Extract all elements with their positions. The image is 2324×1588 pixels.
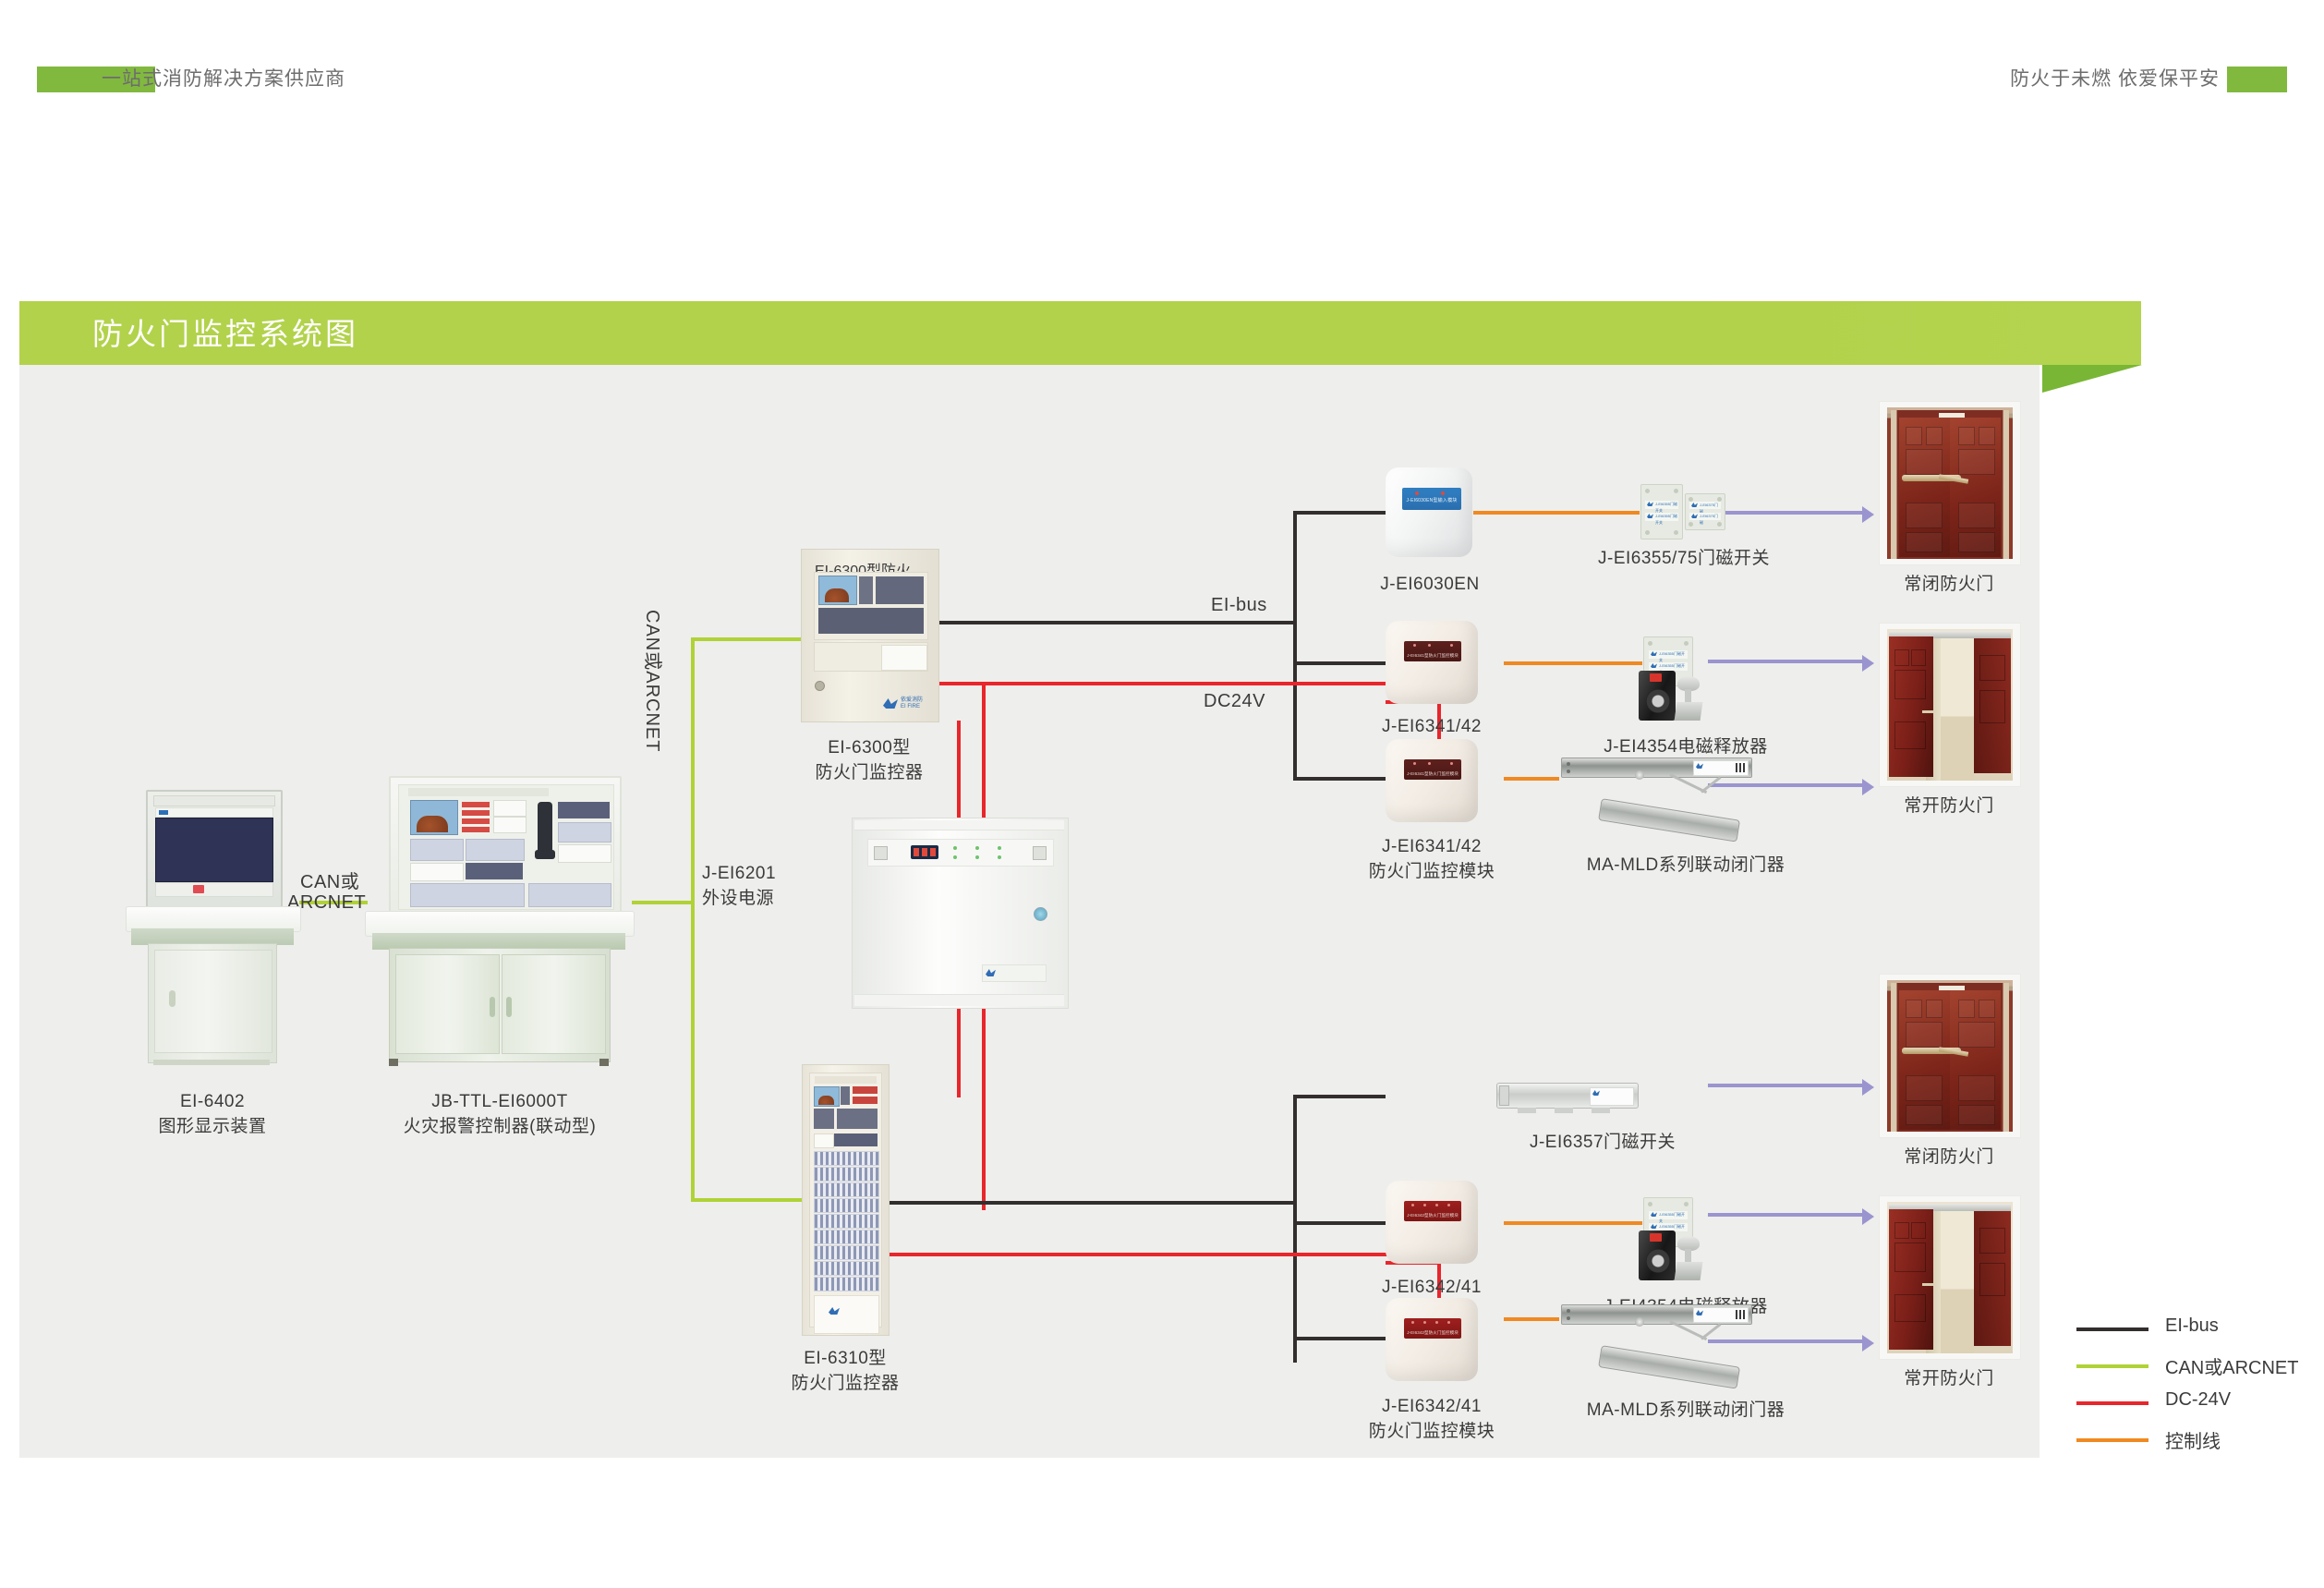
label-ei6030en: J-EI6030EN [1339, 573, 1520, 597]
label-ei6402-name: 图形显示装置 [79, 1114, 345, 1139]
wire-eibus-to-6357 [1293, 1095, 1386, 1098]
wire-eibus-6310-main [888, 1201, 1293, 1205]
ei6310-status-led-1 [853, 1086, 878, 1094]
ei6341b-nameplate-text: J-EI6341型防火门监控模块 [1404, 771, 1461, 777]
ei6000t-zone-block-1 [493, 800, 527, 817]
header-accent-bar-right [2227, 67, 2287, 92]
ei6402-monitor-frame [146, 790, 283, 914]
ei4354a-release-button[interactable] [1650, 673, 1662, 682]
ei6355b-sticker-1: J-EI6355门磁开关 [1649, 1211, 1688, 1219]
device-j-ei6341-42-module-b[interactable]: J-EI6341型防火门监控模块 [1386, 739, 1478, 822]
wire-can-6000-to-trunk [632, 901, 693, 904]
ei6300-faceplate-title: EI-6300型防火门监控器 [815, 558, 926, 568]
legend-swatch-control [2076, 1438, 2148, 1442]
ei6000t-cabinet-door-right [502, 954, 606, 1054]
legend-item-ei-bus: EI-bus [2076, 1312, 2307, 1349]
ei6000t-handle-left [490, 997, 495, 1017]
ei6402-control-strip [155, 882, 273, 897]
label-ei6341-42-b-name: 防火门监控模块 [1341, 859, 1522, 884]
wire-dc24v-6300-main [938, 682, 1441, 685]
ei6300-logo-mark-icon [883, 698, 898, 709]
image-open-fire-door-top [1879, 623, 2021, 787]
ei6201-nameplate [982, 964, 1047, 982]
arrow-to-open-door-top [1862, 655, 1874, 672]
ei6310-zone-row-1 [814, 1151, 879, 1166]
ei6201-base [854, 994, 1064, 1006]
image-closed-fire-door-top [1879, 401, 2021, 565]
ei6310-faceplate-title [815, 1076, 877, 1084]
legend-item-control: 控制线 [2076, 1423, 2307, 1460]
wire-eibus-6300-main [938, 621, 1297, 624]
ei4354b-magnet-body [1639, 1230, 1676, 1280]
ei6000t-cabinet [389, 948, 611, 1062]
ei6000t-handset[interactable] [538, 802, 552, 855]
label-ma-mld-a: MA-MLD系列联动闭门器 [1543, 854, 1829, 878]
ei6030en-logo-watermark-icon [1411, 527, 1443, 539]
ei6355-plate-left: J-EI6355门磁开关 J-EI6355门磁开关 [1640, 484, 1683, 539]
device-j-ei6342-41-module-b[interactable]: J-EI6342型防火门监控模块 [1386, 1298, 1478, 1381]
ei6030en-action-led [1415, 491, 1419, 495]
device-j-ei6355-75-door-magnet-switch[interactable]: J-EI6355门磁开关 J-EI6355门磁开关 J-EI6375门磁 J-E… [1640, 484, 1724, 538]
ei6310-zone-row-7 [814, 1245, 879, 1260]
wire-eibus-vertical-bottom [1293, 1095, 1297, 1363]
ma-mld-b-pivot [1635, 1317, 1644, 1327]
ei6000t-status-led-row-4 [462, 827, 490, 832]
ei6310-status-led-2 [853, 1097, 878, 1104]
ei6201-led-4 [953, 855, 957, 859]
label-ei6300-name: 防火门监控器 [735, 760, 1003, 785]
wire-label-can-arcnet: CAN或ARCNET [641, 610, 668, 637]
arrow-to-closed-door-bottom [1862, 1079, 1874, 1096]
ei6000t-keypad-far-right-2[interactable] [528, 883, 611, 907]
label-ei6000t-name: 火灾报警控制器(联动型) [366, 1114, 634, 1139]
device-ei6300-fire-door-monitor[interactable]: EI-6300型防火门监控器 依爱消防EI FIRE [801, 549, 939, 722]
ei6000t-keypad-far-right-1[interactable] [558, 822, 611, 842]
ei6402-brand-strip [155, 807, 273, 818]
ei6300-lower-panel [814, 642, 928, 672]
ei4354b-release-button[interactable] [1650, 1233, 1662, 1242]
wire-control-6342a-to-dms [1504, 1221, 1642, 1225]
ei6310-label-strip [834, 1133, 878, 1146]
ei6000t-lcd [410, 800, 458, 835]
wire-eibus-to-6341b [1293, 777, 1386, 781]
wire-output-to-open-door-top [1708, 660, 1865, 663]
header-tagline: 一站式消防解决方案供应商 [102, 67, 345, 92]
ei6201-lock-knob[interactable] [1034, 907, 1047, 921]
ei6000t-cabinet-door-left [395, 954, 500, 1054]
ei6310-logo-mark-icon [829, 1307, 840, 1315]
ei4354a-magnet-body [1639, 671, 1676, 721]
wire-control-6341b-to-closer [1504, 777, 1559, 781]
device-j-ei6341-42-module-a[interactable]: J-EI6341型防火门监控模块 [1386, 621, 1478, 704]
device-jb-ttl-ei6000t-fire-panel[interactable] [365, 776, 633, 1072]
ei6310-zone-row-3 [814, 1182, 879, 1197]
image-open-fire-door-bottom [1879, 1195, 2021, 1360]
wire-dc24v-psu-to-bottom [957, 1005, 961, 1097]
ei6000t-zone-block-2 [493, 817, 527, 833]
ei6000t-status-led-row-3 [462, 818, 490, 824]
ei6000t-panel-inner [398, 784, 614, 910]
ei6300-screen [818, 576, 857, 605]
ei6201-top-cap [854, 820, 1064, 830]
wire-label-can-or: CAN或 [300, 867, 359, 893]
ei6310-zone-row-9 [814, 1277, 879, 1291]
ei6201-led-5 [975, 855, 979, 859]
ei6342b-nameplate: J-EI6342型防火门监控模块 [1404, 1318, 1461, 1339]
legend-item-can-arcnet: CAN或ARCNET [2076, 1349, 2307, 1386]
wire-control-6030en-to-dms [1473, 511, 1640, 515]
label-ma-mld-b: MA-MLD系列联动闭门器 [1543, 1399, 1829, 1423]
ei6000t-panel-frame [389, 776, 622, 918]
ei6030en-nameplate-text: J-EI6030EN型输入模块 [1402, 497, 1461, 503]
wire-control-6341a-to-dms [1504, 661, 1642, 665]
ma-mld-a-closer-body [1598, 798, 1740, 842]
ei6355-sticker-2: J-EI6355门磁开关 [1645, 513, 1678, 521]
ei6375-sticker-1: J-EI6375门磁 [1689, 502, 1721, 509]
label-open-fire-door-top: 常开防火门 [1879, 794, 2019, 818]
label-ei6357: J-EI6357门磁开关 [1478, 1131, 1727, 1155]
device-ma-mld-door-closer-a[interactable] [1561, 758, 1775, 837]
ei6402-cabinet [148, 943, 277, 1063]
label-ei6342-41-b-name: 防火门监控模块 [1341, 1419, 1522, 1444]
ei6000t-handle-right [506, 997, 512, 1017]
ei6310-zone-row-6 [814, 1230, 879, 1244]
label-ei6310-name: 防火门监控器 [711, 1371, 979, 1396]
ei6342a-nameplate: J-EI6342型防火门监控模块 [1404, 1201, 1461, 1221]
ei6402-alarm-led [193, 885, 204, 893]
label-closed-fire-door-bottom: 常闭防火门 [1879, 1146, 2019, 1170]
ei6355a-sticker-1: J-EI6355门磁开关 [1649, 650, 1688, 659]
device-j-ei6357-door-magnet-switch[interactable] [1496, 1083, 1639, 1109]
legend-label-can-arcnet: CAN或ARCNET [2165, 1352, 2298, 1379]
ei6000t-function-keys[interactable] [410, 883, 525, 907]
label-ei6341-42-a: J-EI6341/42 [1341, 715, 1522, 739]
ei6357-mount-foot-3 [1592, 1108, 1610, 1113]
ei6201-led-2 [975, 846, 979, 850]
wire-eibus-to-6341a [1293, 661, 1386, 665]
wire-can-to-6300 [691, 637, 804, 641]
banner-fold-decoration [2042, 365, 2142, 393]
label-ei6201-code: J-EI6201 [702, 861, 914, 886]
ei4354b-armature-plate [1676, 1236, 1703, 1280]
ei6402-base [153, 1060, 270, 1065]
device-j-ei4354-releaser-b[interactable] [1639, 1227, 1703, 1284]
ei6402-monitor-top-vent [153, 795, 275, 806]
arrow-to-open-door-bottom [1862, 1208, 1874, 1225]
header-slogan: 防火于未燃 依爱保平安 [2010, 67, 2220, 92]
ei6300-faceplate [814, 572, 928, 640]
ei6357-end-cap [1499, 1085, 1509, 1106]
ei6000t-printer-slot [410, 863, 464, 881]
device-j-ei6201-power-supply[interactable] [852, 818, 1069, 1009]
ei6000t-status-led-row-1 [462, 802, 490, 807]
ei6201-voltage-display [911, 845, 938, 859]
ma-mld-a-arm-2 [1701, 776, 1721, 793]
label-ei6355-75: J-EI6355/75门磁开关 [1559, 547, 1809, 571]
label-ei6310-code: EI-6310型 [711, 1346, 979, 1371]
ei4354a-magnet-face [1646, 689, 1670, 713]
ei6000t-leg-right [599, 1059, 609, 1066]
ei6201-led-1 [953, 846, 957, 850]
wire-can-vertical-trunk [691, 637, 695, 1202]
ei6000t-nameplate [408, 788, 549, 796]
ei6310-brand-logo [829, 1306, 862, 1315]
ei6000t-brand-plate [466, 863, 523, 879]
ei6310-zone-row-8 [814, 1261, 879, 1276]
ei6300-door-lock[interactable] [815, 681, 825, 691]
ei6000t-keypad-left[interactable] [410, 839, 464, 861]
ei6310-screen [814, 1086, 840, 1107]
ei6201-led-6 [998, 855, 1001, 859]
ei6000t-display-right [558, 802, 610, 818]
ei6000t-status-led-row-2 [462, 810, 490, 816]
ei6300-printer-module [881, 645, 927, 671]
device-j-ei6030en-input-module[interactable]: J-EI6030EN型输入模块 [1386, 467, 1472, 557]
label-ei6300-code: EI-6300型 [735, 735, 1003, 760]
ei6300-zone-strip [818, 608, 924, 634]
wire-eibus-to-6342a [1293, 1221, 1386, 1225]
label-ei6402-code: EI-6402 [79, 1089, 345, 1114]
ei6357-mount-foot-1 [1518, 1108, 1536, 1113]
ma-mld-b-arm-2 [1701, 1323, 1721, 1339]
legend-swatch-ei-bus [2076, 1327, 2148, 1331]
ma-mld-b-nameplate [1693, 1307, 1749, 1323]
wire-control-6342b-to-closer [1504, 1317, 1559, 1321]
label-ei4354-a: J-EI4354电磁释放器 [1561, 735, 1810, 759]
ei6342b-nameplate-text: J-EI6342型防火门监控模块 [1404, 1330, 1461, 1336]
ei6310-keypad-3[interactable] [837, 1109, 878, 1129]
ei6300-logo-text: 依爱消防EI FIRE [901, 697, 923, 710]
wire-output-to-closed-door-bottom [1708, 1084, 1865, 1087]
ei6201-reset-switch[interactable] [1033, 846, 1047, 860]
label-ei6341-42-b-code: J-EI6341/42 [1341, 834, 1522, 859]
device-j-ei4354-releaser-a[interactable] [1639, 667, 1703, 724]
image-closed-fire-door-bottom [1879, 974, 2021, 1138]
ei6300-brand-logo: 依爱消防EI FIRE [883, 697, 924, 710]
device-ma-mld-door-closer-b[interactable] [1561, 1304, 1775, 1384]
wire-can-to-6310 [691, 1198, 805, 1202]
ei6342a-nameplate-text: J-EI6342型防火门监控模块 [1404, 1213, 1461, 1218]
ei6300-indicator-matrix [876, 576, 924, 604]
arrow-to-closed-door-top [1862, 506, 1874, 523]
legend-label-dc24v: DC-24V [2165, 1389, 2231, 1411]
wire-label-dc24v: DC24V [1204, 691, 1265, 712]
arrow-to-open-door-top2 [1862, 779, 1874, 795]
ei6000t-keypad-right[interactable] [466, 839, 525, 861]
wire-label-ei-bus-top: EI-bus [1211, 595, 1267, 616]
wire-dc24v-6310-main [888, 1253, 1441, 1256]
device-ei6310-fire-door-monitor[interactable] [802, 1064, 890, 1336]
ei6341a-nameplate: J-EI6341型防火门监控模块 [1404, 641, 1461, 661]
device-j-ei6342-41-module-a[interactable]: J-EI6342型防火门监控模块 [1386, 1181, 1478, 1264]
ei6201-main-switch[interactable] [874, 846, 888, 860]
wire-output-to-closed-door-top [1708, 511, 1865, 515]
label-closed-fire-door-top: 常闭防火门 [1879, 573, 2019, 597]
ei6000t-module-slot [558, 844, 611, 863]
ei6300-keypad[interactable] [859, 576, 873, 604]
ei6000t-leg-left [389, 1059, 398, 1066]
ei6341b-nameplate: J-EI6341型防火门监控模块 [1404, 759, 1461, 780]
ei6201-logo-mark-icon [986, 969, 996, 976]
ei6355-plate-right: J-EI6375门磁 J-EI6375门磁 [1685, 493, 1725, 530]
wire-eibus-vertical-top [1293, 511, 1297, 781]
ei6030en-fault-led [1441, 491, 1445, 495]
label-ei6000t-code: JB-TTL-EI6000T [366, 1089, 634, 1114]
ei6357-mount-foot-2 [1555, 1108, 1573, 1113]
label-open-fire-door-bottom: 常开防火门 [1879, 1367, 2019, 1391]
wire-eibus-to-6030en [1293, 511, 1386, 515]
arrow-to-open-door-bottom2 [1862, 1335, 1874, 1352]
wire-output-to-open-door-bottom [1708, 1213, 1865, 1217]
device-ei6402-graphic-display[interactable] [126, 790, 299, 1067]
ma-mld-b-slide-rail [1561, 1304, 1752, 1325]
ei6310-keypad[interactable] [841, 1086, 850, 1105]
ei6030en-nameplate: J-EI6030EN型输入模块 [1402, 488, 1461, 510]
ei6341a-nameplate-text: J-EI6341型防火门监控模块 [1404, 653, 1461, 659]
ma-mld-a-slide-rail [1561, 758, 1752, 778]
wire-eibus-to-6342b [1293, 1337, 1386, 1340]
ei6402-screen [155, 818, 273, 882]
legend-label-ei-bus: EI-bus [2165, 1315, 2219, 1337]
ma-mld-b-closer-body [1598, 1345, 1740, 1388]
legend-swatch-can-arcnet [2076, 1364, 2148, 1368]
ei6357-nameplate [1590, 1087, 1634, 1106]
ei4354b-magnet-face [1646, 1249, 1670, 1273]
ma-mld-a-nameplate [1693, 760, 1749, 776]
legend-item-dc24v: DC-24V [2076, 1386, 2307, 1423]
legend: EI-bus CAN或ARCNET DC-24V 控制线 [2076, 1312, 2307, 1460]
ei6310-keypad-2[interactable] [814, 1109, 834, 1129]
ei6310-printer-module [814, 1133, 834, 1148]
legend-label-control: 控制线 [2165, 1426, 2221, 1453]
ei6310-zone-row-2 [814, 1167, 879, 1182]
label-ei6342-41-a: J-EI6342/41 [1341, 1276, 1522, 1300]
ei6310-zone-row-5 [814, 1214, 879, 1229]
ei4354a-armature-plate [1676, 676, 1703, 721]
ma-mld-a-pivot [1635, 770, 1644, 780]
ei6375-sticker-2: J-EI6375门磁 [1689, 513, 1721, 520]
legend-swatch-dc24v [2076, 1401, 2148, 1405]
label-ei6342-41-b-code: J-EI6342/41 [1341, 1394, 1522, 1419]
ei6355-sticker-1: J-EI6355门磁开关 [1645, 501, 1678, 509]
ei6310-zone-row-4 [814, 1198, 879, 1213]
ei6310-inner-frame [809, 1073, 882, 1327]
ei6402-cabinet-lock [169, 990, 176, 1007]
ei6201-led-3 [998, 846, 1001, 850]
label-ei6201-name: 外设电源 [702, 886, 914, 911]
page-title: 防火门监控系统图 [92, 315, 358, 354]
